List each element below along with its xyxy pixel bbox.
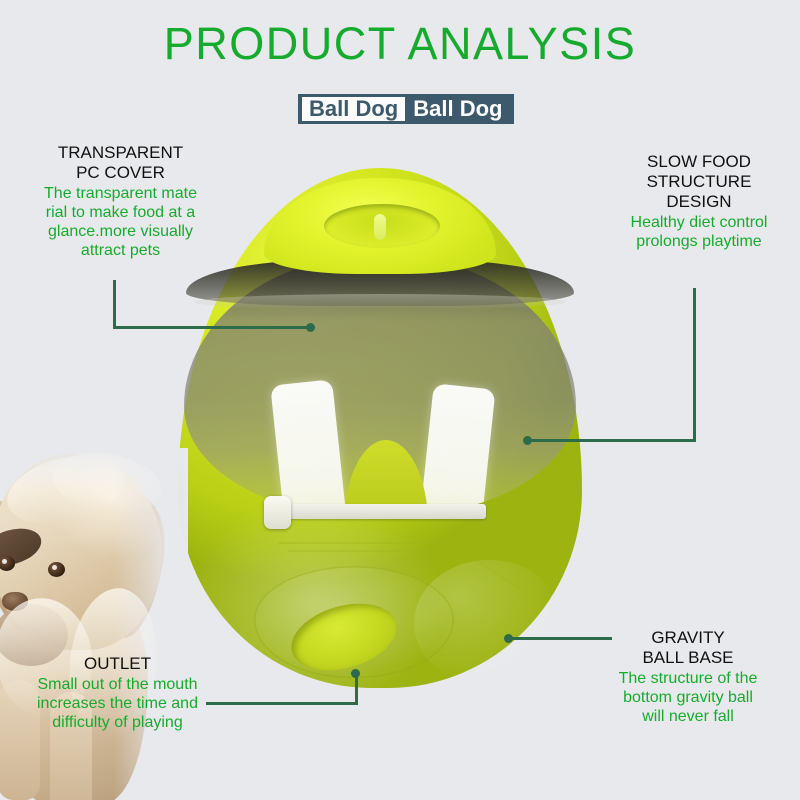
callout-outlet: OUTLET Small out of the mouth increases … bbox=[10, 654, 225, 732]
infographic-canvas: PRODUCT ANALYSIS Ball Dog Ball Dog bbox=[0, 0, 800, 800]
base-ridge bbox=[288, 550, 438, 552]
callout-heading: TRANSPARENT PC COVER bbox=[18, 143, 223, 183]
brand-badge-left-label: Ball Dog bbox=[309, 98, 398, 120]
callout-transparent-pc-cover: TRANSPARENT PC COVER The transparent mat… bbox=[18, 143, 223, 260]
brand-badge-light: Ball Dog bbox=[302, 97, 405, 121]
leader-line-outlet bbox=[206, 702, 358, 705]
callout-body: The transparent mate rial to make food a… bbox=[18, 184, 223, 260]
callout-heading: SLOW FOOD STRUCTURE DESIGN bbox=[604, 152, 794, 212]
internal-vane-right bbox=[414, 383, 495, 516]
base-ridge bbox=[278, 542, 448, 544]
leader-dot-outlet bbox=[351, 669, 360, 678]
leader-line-slow-food bbox=[693, 288, 696, 442]
cover-rim-highlight bbox=[194, 294, 566, 310]
brand-badge-dark: Ball Dog bbox=[405, 94, 510, 124]
leader-dot-cover bbox=[306, 323, 315, 332]
leader-line-cover bbox=[113, 280, 116, 328]
leader-line-cover bbox=[113, 326, 311, 329]
callout-heading: GRAVITY BALL BASE bbox=[578, 628, 798, 668]
product-image bbox=[178, 168, 582, 688]
callout-body: Small out of the mouth increases the tim… bbox=[10, 675, 225, 732]
leader-dot-gravity bbox=[504, 634, 513, 643]
top-cap-nub bbox=[374, 214, 386, 240]
leader-line-slow-food bbox=[530, 439, 696, 442]
portion-slider bbox=[264, 496, 291, 529]
callout-body: Healthy diet control prolongs playtime bbox=[604, 213, 794, 251]
callout-body: The structure of the bottom gravity ball… bbox=[578, 669, 798, 726]
brand-badge: Ball Dog Ball Dog bbox=[298, 94, 514, 124]
page-title: PRODUCT ANALYSIS bbox=[0, 18, 800, 70]
dog-photo bbox=[0, 448, 188, 800]
leader-dot-slow-food bbox=[523, 436, 532, 445]
callout-gravity-ball-base: GRAVITY BALL BASE The structure of the b… bbox=[578, 628, 798, 726]
cover-base-seam bbox=[274, 504, 486, 519]
leader-line-outlet bbox=[355, 676, 358, 704]
callout-slow-food-structure-design: SLOW FOOD STRUCTURE DESIGN Healthy diet … bbox=[604, 152, 794, 251]
photo-edge-fade bbox=[0, 448, 188, 800]
brand-badge-right-label: Ball Dog bbox=[413, 98, 502, 120]
callout-heading: OUTLET bbox=[10, 654, 225, 674]
